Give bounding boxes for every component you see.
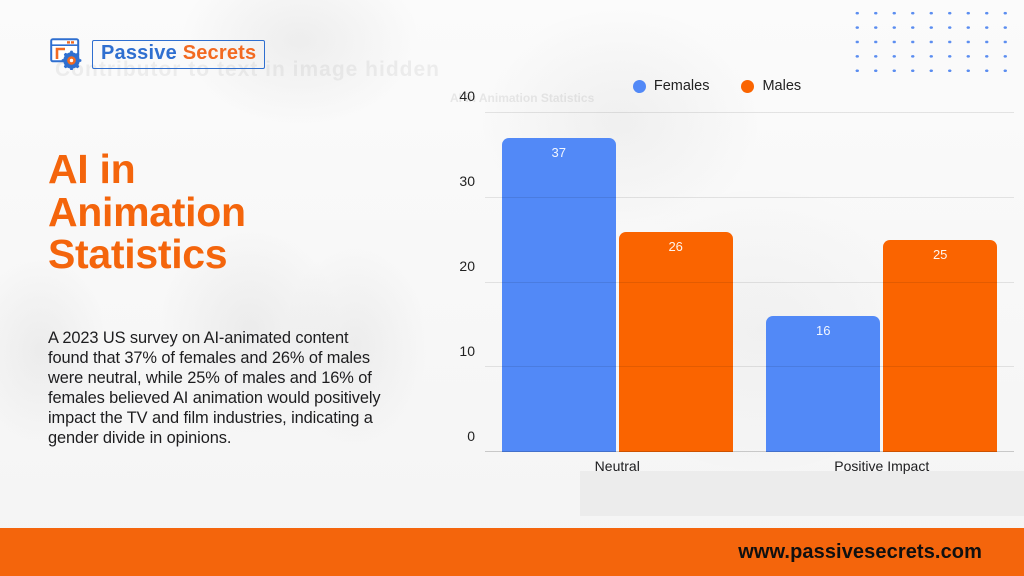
- brand-logo[interactable]: Passive Secrets: [50, 38, 265, 70]
- brand-word-passive: Passive: [101, 42, 177, 64]
- chart-bar-value: 37: [502, 145, 616, 160]
- chart-y-tick-30: 30: [459, 173, 475, 189]
- chart-bar-females-positive-impact[interactable]: 16: [766, 316, 880, 452]
- chart-bar-males-neutral[interactable]: 26: [619, 232, 733, 452]
- chart-gridline-10: 10: [485, 366, 1014, 367]
- chart-y-tick-10: 10: [459, 343, 475, 359]
- body-paragraph: A 2023 US survey on AI-animated content …: [48, 328, 393, 448]
- chart-x-axis-labels: NeutralPositive Impact: [485, 458, 1014, 480]
- chart-y-tick-20: 20: [459, 258, 475, 274]
- footer-website-url[interactable]: www.passivesecrets.com: [738, 541, 982, 564]
- chart-gridline-30: 30: [485, 197, 1014, 198]
- chart-y-tick-0: 0: [467, 428, 475, 444]
- page-title-line-0: AI in: [48, 148, 388, 191]
- page-title: AI inAnimationStatistics: [48, 148, 388, 276]
- chart-bar-males-positive-impact[interactable]: 25: [883, 240, 997, 452]
- brand-wordmark: Passive Secrets: [92, 40, 265, 69]
- legend-label-males: Males: [762, 78, 801, 94]
- chart-bar-value: 26: [619, 239, 733, 254]
- page-title-line-1: Animation: [48, 191, 388, 234]
- chart-plot-area: 37261625 010203040: [485, 113, 1014, 452]
- chart-legend: Females Males: [410, 78, 1024, 94]
- browser-gear-icon: [50, 38, 86, 70]
- legend-swatch-females: [633, 80, 646, 93]
- legend-item-males[interactable]: Males: [741, 78, 801, 94]
- chart-bars: 37261625: [485, 113, 1014, 452]
- chart-gridline-20: 20: [485, 282, 1014, 283]
- legend-swatch-males: [741, 80, 754, 93]
- chart-x-label-neutral: Neutral: [595, 458, 640, 474]
- chart-y-tick-40: 40: [459, 88, 475, 104]
- chart-gridline-40: 40: [485, 112, 1014, 113]
- bar-chart: AI in Animation Statistics Females Males…: [410, 66, 1024, 516]
- footer-bar: www.passivesecrets.com: [0, 528, 1024, 576]
- page-title-line-2: Statistics: [48, 233, 388, 276]
- brand-word-secrets: Secrets: [183, 42, 257, 64]
- chart-bar-value: 16: [766, 323, 880, 338]
- legend-item-females[interactable]: Females: [633, 78, 710, 94]
- chart-x-label-positive-impact: Positive Impact: [834, 458, 929, 474]
- chart-bar-females-neutral[interactable]: 37: [502, 138, 616, 452]
- chart-gridline-0: 0: [485, 451, 1014, 452]
- legend-label-females: Females: [654, 78, 710, 94]
- chart-bar-value: 25: [883, 247, 997, 262]
